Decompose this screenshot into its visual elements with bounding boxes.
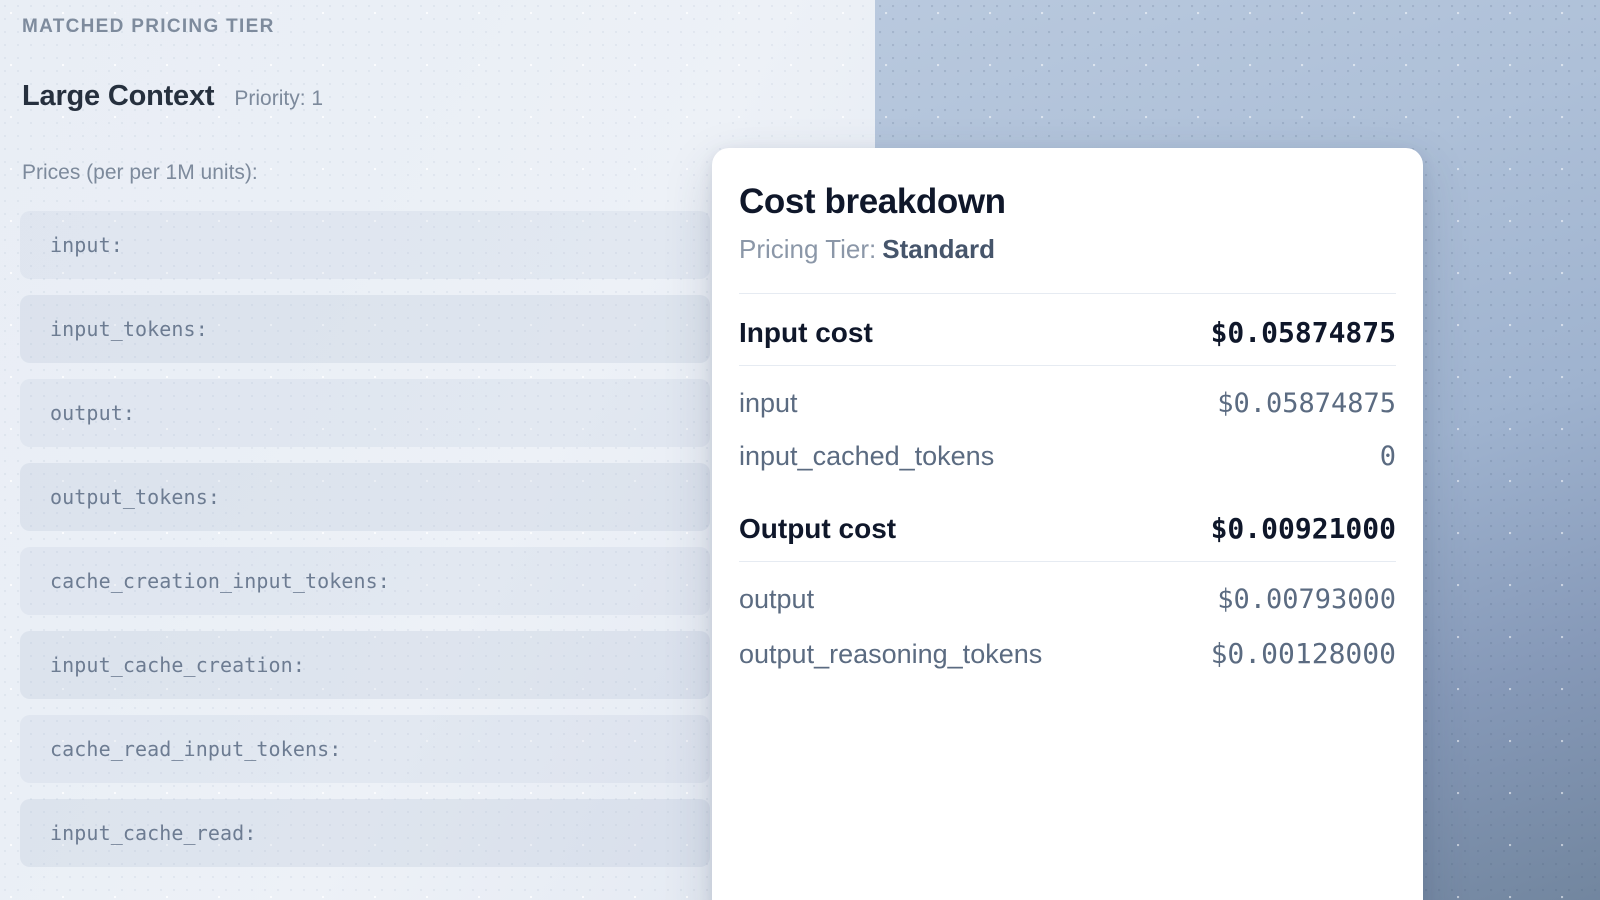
list-item[interactable]: cache_read_input_tokens:	[20, 715, 710, 783]
table-row: input_cached_tokens 0	[738, 419, 1397, 472]
input-cost-label: Input cost	[739, 317, 873, 349]
prices-section-label: Prices (per per 1M units):	[22, 161, 258, 185]
output-reasoning-tokens-value: $0.00128000	[1211, 637, 1396, 670]
output-reasoning-tokens-label: output_reasoning_tokens	[739, 639, 1042, 670]
table-row: input $0.05874875	[738, 366, 1397, 419]
table-row: output_reasoning_tokens $0.00128000	[738, 615, 1397, 670]
tier-summary-row: Large Context Priority: 1	[22, 80, 323, 113]
price-key-label: output:	[20, 401, 135, 425]
list-item[interactable]: input:	[20, 211, 710, 279]
page-title: Cost breakdown	[738, 182, 1397, 222]
list-item[interactable]: output_tokens:	[20, 463, 710, 531]
screen-root: MATCHED PRICING TIER Large Context Prior…	[0, 0, 1600, 900]
tier-priority: Priority: 1	[234, 87, 323, 111]
pricing-tier-label: Pricing Tier:	[739, 234, 876, 264]
output-cost-section: Output cost $0.00921000 output $0.007930…	[738, 472, 1397, 670]
price-key-label: output_tokens:	[20, 485, 220, 509]
price-key-label: cache_creation_input_tokens:	[20, 569, 390, 593]
list-item[interactable]: output:	[20, 379, 710, 447]
input-row-label: input	[739, 388, 798, 419]
price-key-label: input_cache_creation:	[20, 653, 305, 677]
cost-breakdown-card-body: Cost breakdown Pricing Tier:Standard Inp…	[712, 148, 1423, 670]
pricing-tier-line: Pricing Tier:Standard	[738, 234, 1397, 265]
output-row-value: $0.00793000	[1217, 584, 1396, 615]
price-key-list: input: input_tokens: output: output_toke…	[20, 211, 710, 883]
input-cost-total-row: Input cost $0.05874875	[738, 316, 1397, 365]
input-row-value: $0.05874875	[1217, 388, 1396, 419]
list-item[interactable]: input_cache_creation:	[20, 631, 710, 699]
matched-pricing-tier-heading: MATCHED PRICING TIER	[22, 16, 275, 38]
input-cached-tokens-label: input_cached_tokens	[739, 441, 994, 472]
table-row: output $0.00793000	[738, 562, 1397, 615]
input-cost-section: Input cost $0.05874875 input $0.05874875…	[738, 294, 1397, 472]
input-cached-tokens-value: 0	[1380, 441, 1396, 472]
list-item[interactable]: input_tokens:	[20, 295, 710, 363]
output-row-label: output	[739, 584, 814, 615]
price-key-label: cache_read_input_tokens:	[20, 737, 341, 761]
output-cost-value: $0.00921000	[1211, 512, 1396, 545]
pricing-tier-value: Standard	[882, 234, 995, 264]
list-item[interactable]: input_cache_read:	[20, 799, 710, 867]
cost-breakdown-card: Cost breakdown Pricing Tier:Standard Inp…	[712, 148, 1423, 900]
price-key-label: input_cache_read:	[20, 821, 256, 845]
list-item[interactable]: cache_creation_input_tokens:	[20, 547, 710, 615]
input-cost-value: $0.05874875	[1211, 316, 1396, 349]
price-key-label: input:	[20, 233, 123, 257]
output-cost-total-row: Output cost $0.00921000	[738, 512, 1397, 561]
price-key-label: input_tokens:	[20, 317, 208, 341]
tier-name: Large Context	[22, 80, 214, 113]
output-cost-label: Output cost	[739, 513, 896, 545]
